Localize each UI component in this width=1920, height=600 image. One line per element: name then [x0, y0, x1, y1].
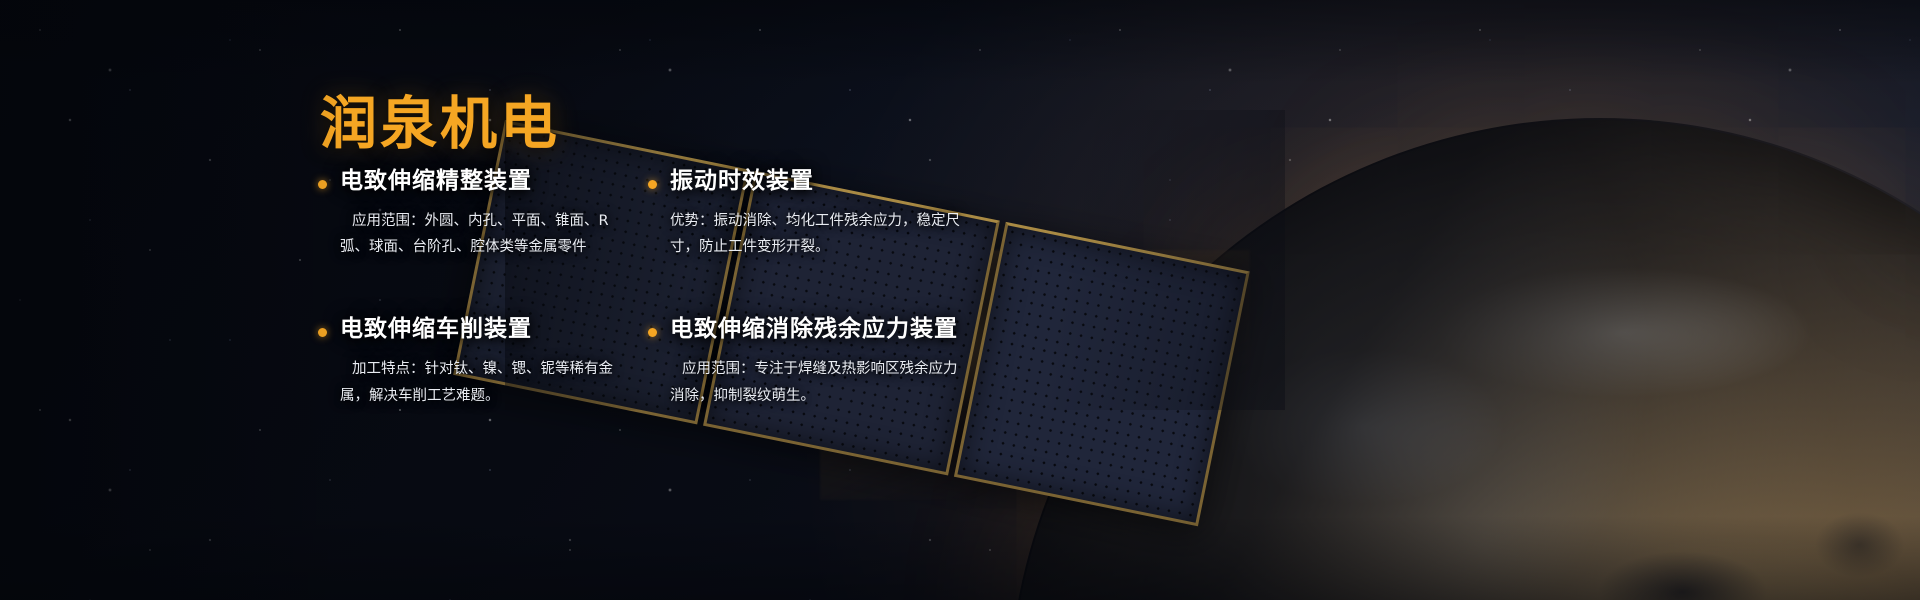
feature-item-1[interactable]: 电致伸缩精整装置 应用范围：外圆、内孔、平面、锥面、R弧、球面、台阶孔、腔体类等…	[318, 168, 648, 261]
feature-title: 振动时效装置	[670, 168, 978, 196]
bullet-dot-icon	[648, 328, 657, 337]
feature-title: 电致伸缩车削装置	[340, 316, 648, 344]
feature-item-4[interactable]: 电致伸缩消除残余应力装置 应用范围：专注于焊缝及热影响区残余应力消除，抑制裂纹萌…	[648, 316, 978, 409]
banner-content: 润泉机电 电致伸缩精整装置 应用范围：外圆、内孔、平面、锥面、R弧、球面、台阶孔…	[0, 0, 1100, 600]
bullet-dot-icon	[318, 180, 327, 189]
brand-title: 润泉机电	[320, 78, 560, 160]
feature-title: 电致伸缩精整装置	[340, 168, 648, 196]
bullet-dot-icon	[648, 180, 657, 189]
feature-item-3[interactable]: 电致伸缩车削装置 加工特点：针对钛、镍、锶、铌等稀有金属，解决车削工艺难题。	[318, 316, 648, 409]
feature-title: 电致伸缩消除残余应力装置	[670, 316, 978, 344]
feature-item-2[interactable]: 振动时效装置 优势：振动消除、均化工件残余应力，稳定尺寸，防止工件变形开裂。	[648, 168, 978, 261]
feature-description: 优势：振动消除、均化工件残余应力，稳定尺寸，防止工件变形开裂。	[670, 208, 965, 262]
feature-description: 应用范围：外圆、内孔、平面、锥面、R弧、球面、台阶孔、腔体类等金属零件	[340, 208, 635, 262]
feature-description: 应用范围：专注于焊缝及热影响区残余应力消除，抑制裂纹萌生。	[670, 356, 965, 410]
bullet-dot-icon	[318, 328, 327, 337]
feature-grid: 电致伸缩精整装置 应用范围：外圆、内孔、平面、锥面、R弧、球面、台阶孔、腔体类等…	[318, 168, 978, 409]
feature-description: 加工特点：针对钛、镍、锶、铌等稀有金属，解决车削工艺难题。	[340, 356, 635, 410]
hero-banner: 润泉机电 电致伸缩精整装置 应用范围：外圆、内孔、平面、锥面、R弧、球面、台阶孔…	[0, 0, 1920, 600]
